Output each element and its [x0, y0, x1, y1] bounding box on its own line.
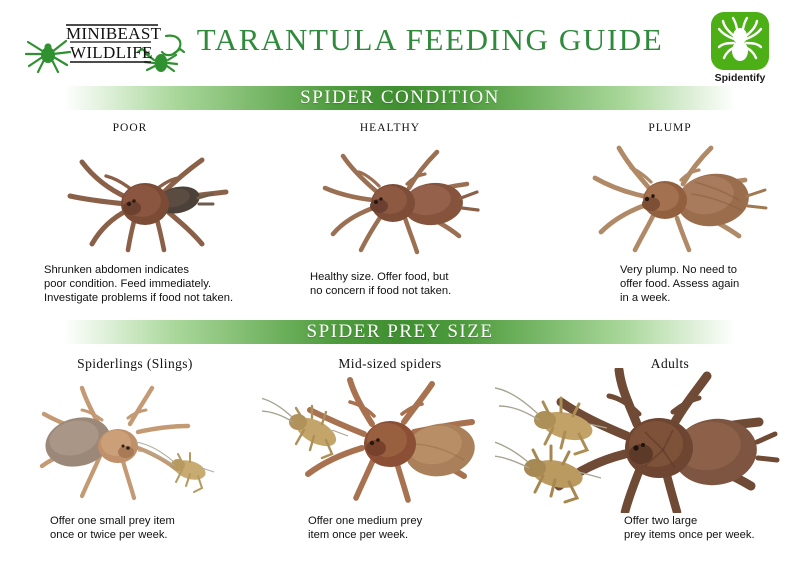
- condition-caption-plump: Very plump. No need to offer food. Asses…: [620, 263, 800, 305]
- spiderling-with-small-cricket-image: [22, 380, 262, 505]
- condition-label-plump: PLUMP: [580, 122, 760, 134]
- adult-spider-with-two-large-crickets-image: [495, 368, 790, 513]
- spidentify-badge[interactable]: Spidentify: [700, 12, 780, 84]
- prey-label-spiderlings: Spiderlings (Slings): [30, 356, 240, 372]
- minibeast-wildlife-logo: MINIBEAST WILDLIFE: [18, 14, 198, 76]
- condition-caption-healthy: Healthy size. Offer food, but no concern…: [310, 270, 545, 298]
- spider-healthy-image: [315, 140, 510, 256]
- brand-name-line1: MINIBEAST: [66, 24, 162, 43]
- spidentify-label: Spidentify: [700, 72, 780, 84]
- section-banner-label: SPIDER PREY SIZE: [307, 321, 494, 343]
- midsized-spider-with-medium-cricket-image: [262, 374, 512, 504]
- section-banner-spider-prey-size: SPIDER PREY SIZE: [0, 320, 800, 344]
- page-title: TARANTULA FEEDING GUIDE: [190, 22, 670, 58]
- infographic-page: MINIBEAST WILDLIFE TARANTULA FEEDING GUI…: [0, 0, 800, 566]
- section-banner-label: SPIDER CONDITION: [300, 87, 500, 109]
- spider-poor-image: [50, 138, 265, 256]
- condition-caption-poor: Shrunken abdomen indicates poor conditio…: [44, 263, 294, 305]
- prey-caption-midsized: Offer one medium prey item once per week…: [308, 514, 523, 542]
- spidentify-app-icon[interactable]: [711, 12, 769, 70]
- medium-cricket: [262, 397, 348, 458]
- section-banner-spider-condition: SPIDER CONDITION: [0, 86, 800, 110]
- small-cricket: [136, 442, 214, 492]
- condition-label-healthy: HEALTHY: [300, 122, 480, 134]
- brand-name-line2: WILDLIFE: [70, 43, 153, 62]
- prey-caption-adults: Offer two large prey items once per week…: [624, 514, 800, 542]
- prey-caption-spiderlings: Offer one small prey item once or twice …: [50, 514, 265, 542]
- condition-label-poor: POOR: [40, 122, 220, 134]
- spider-plump-image: [585, 138, 790, 256]
- prey-label-midsized: Mid-sized spiders: [285, 356, 495, 372]
- header: MINIBEAST WILDLIFE TARANTULA FEEDING GUI…: [0, 0, 800, 86]
